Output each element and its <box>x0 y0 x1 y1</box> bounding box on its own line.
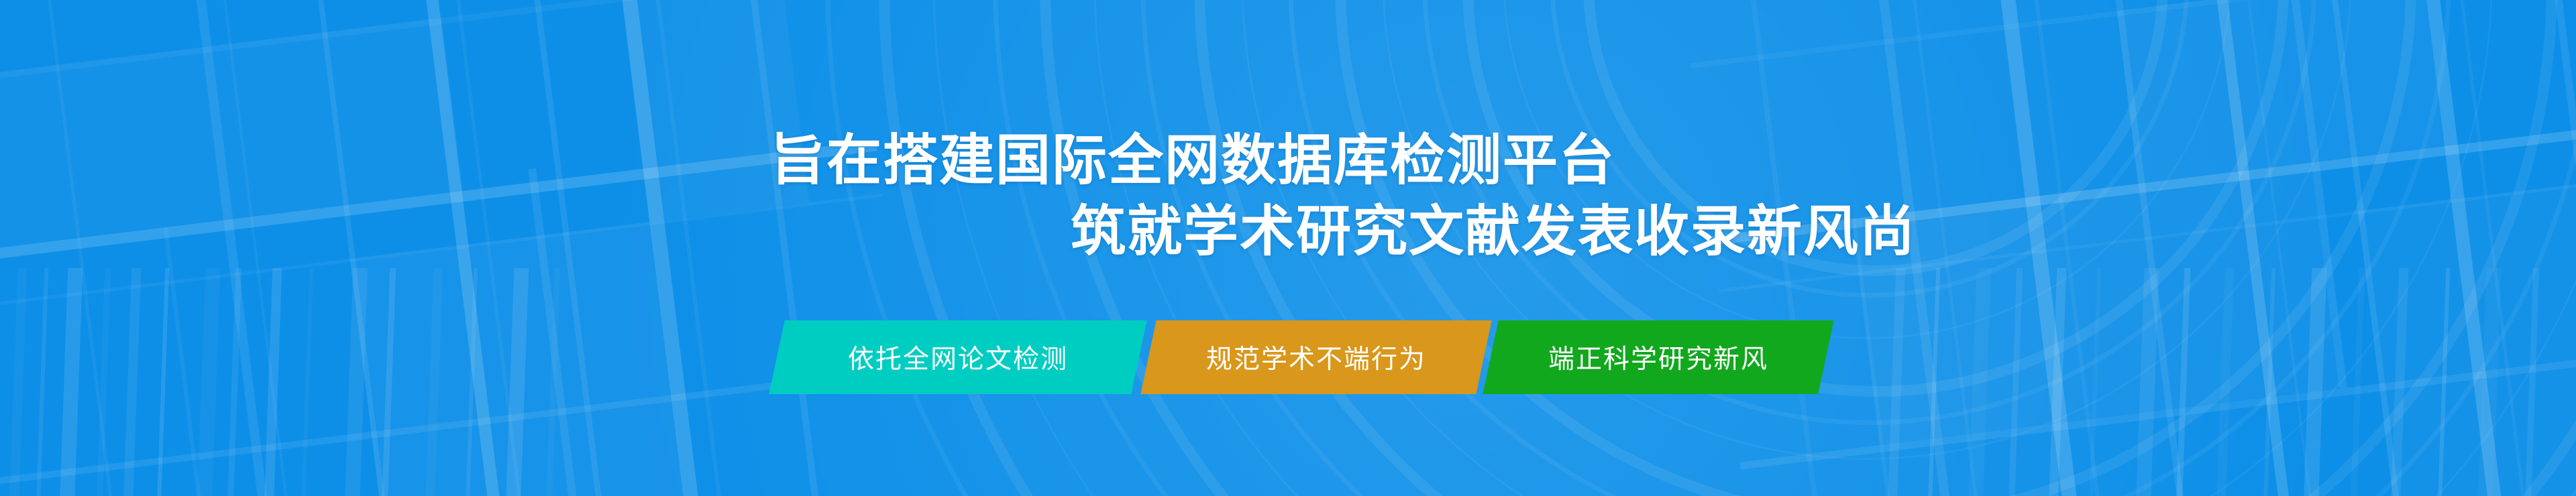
feature-tag-3[interactable]: 端正科学研究新风 <box>1483 320 1833 394</box>
headline-line-1: 旨在搭建国际全网数据库检测平台 <box>770 127 1615 194</box>
feature-tag-ribbon: 依托全网论文检测 规范学术不端行为 端正科学研究新风 <box>0 315 2576 402</box>
headline-block: 旨在搭建国际全网数据库检测平台 筑就学术研究文献发表收录新风尚 <box>0 0 2576 295</box>
hero-banner: 旨在搭建国际全网数据库检测平台 筑就学术研究文献发表收录新风尚 依托全网论文检测… <box>0 0 2576 496</box>
feature-tag-2-label: 规范学术不端行为 <box>1206 338 1426 376</box>
headline-line-2: 筑就学术研究文献发表收录新风尚 <box>1071 198 1916 265</box>
feature-tag-2[interactable]: 规范学术不端行为 <box>1140 320 1491 394</box>
feature-tag-3-label: 端正科学研究新风 <box>1548 338 1768 376</box>
feature-tag-1[interactable]: 依托全网论文检测 <box>769 320 1146 394</box>
feature-tag-1-label: 依托全网论文检测 <box>848 338 1068 376</box>
